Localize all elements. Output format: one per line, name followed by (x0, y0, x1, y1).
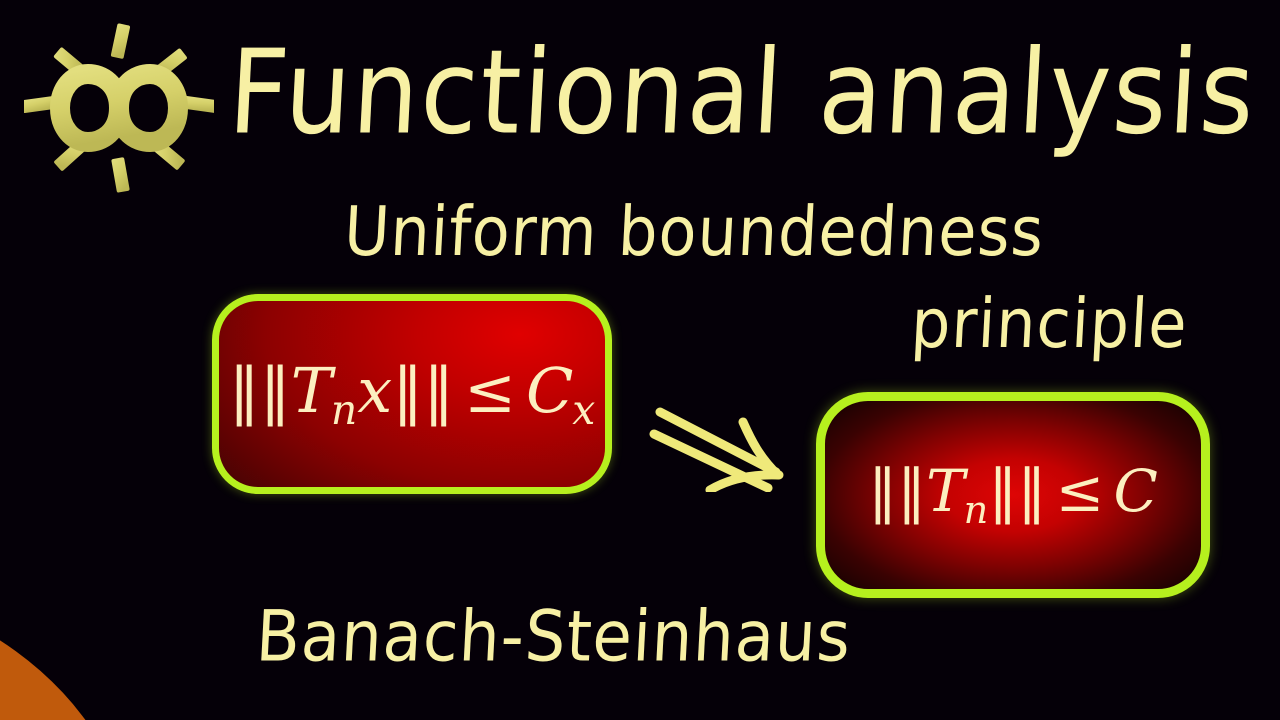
bound-subscript: x (572, 386, 595, 434)
norm-open-bar-2: ‖ (260, 354, 291, 427)
page-title: Functional analysis (226, 34, 1259, 150)
subtitle-line-1: Uniform boundedness (342, 198, 1046, 266)
norm-close-bar-2: ‖ (423, 354, 454, 427)
norm-close-bar: ‖ (988, 457, 1017, 525)
subtitle-line-2: principle (909, 290, 1189, 358)
formula-conclusion: ‖‖Tn‖‖≤C (868, 457, 1158, 532)
operator-symbol: T (291, 354, 332, 427)
infinity-sun-logo (24, 22, 214, 194)
formula-hypothesis: ‖‖Tnx‖‖≤Cx (229, 354, 596, 434)
formula-box-hypothesis: ‖‖Tnx‖‖≤Cx (212, 294, 612, 494)
slide-canvas: Functional analysis Uniform boundedness … (0, 0, 1280, 720)
norm-open-bar: ‖ (229, 354, 260, 427)
operator-index: n (331, 386, 357, 434)
norm-open-bar-2: ‖ (897, 457, 926, 525)
corner-decoration (0, 583, 140, 720)
bound-symbol: C (1113, 457, 1157, 525)
relation-symbol: ≤ (464, 354, 516, 427)
relation-symbol: ≤ (1056, 457, 1105, 525)
implies-arrow (648, 396, 808, 492)
bound-symbol: C (526, 354, 573, 427)
norm-close-bar-2: ‖ (1017, 457, 1046, 525)
norm-close-bar: ‖ (392, 354, 423, 427)
norm-open-bar: ‖ (868, 457, 897, 525)
vector-symbol: x (357, 354, 392, 427)
operator-symbol: T (926, 457, 965, 525)
infinity-icon (60, 74, 178, 142)
footer-caption: Banach-Steinhaus (254, 602, 853, 672)
formula-box-conclusion: ‖‖Tn‖‖≤C (816, 392, 1210, 598)
operator-index: n (964, 488, 989, 533)
